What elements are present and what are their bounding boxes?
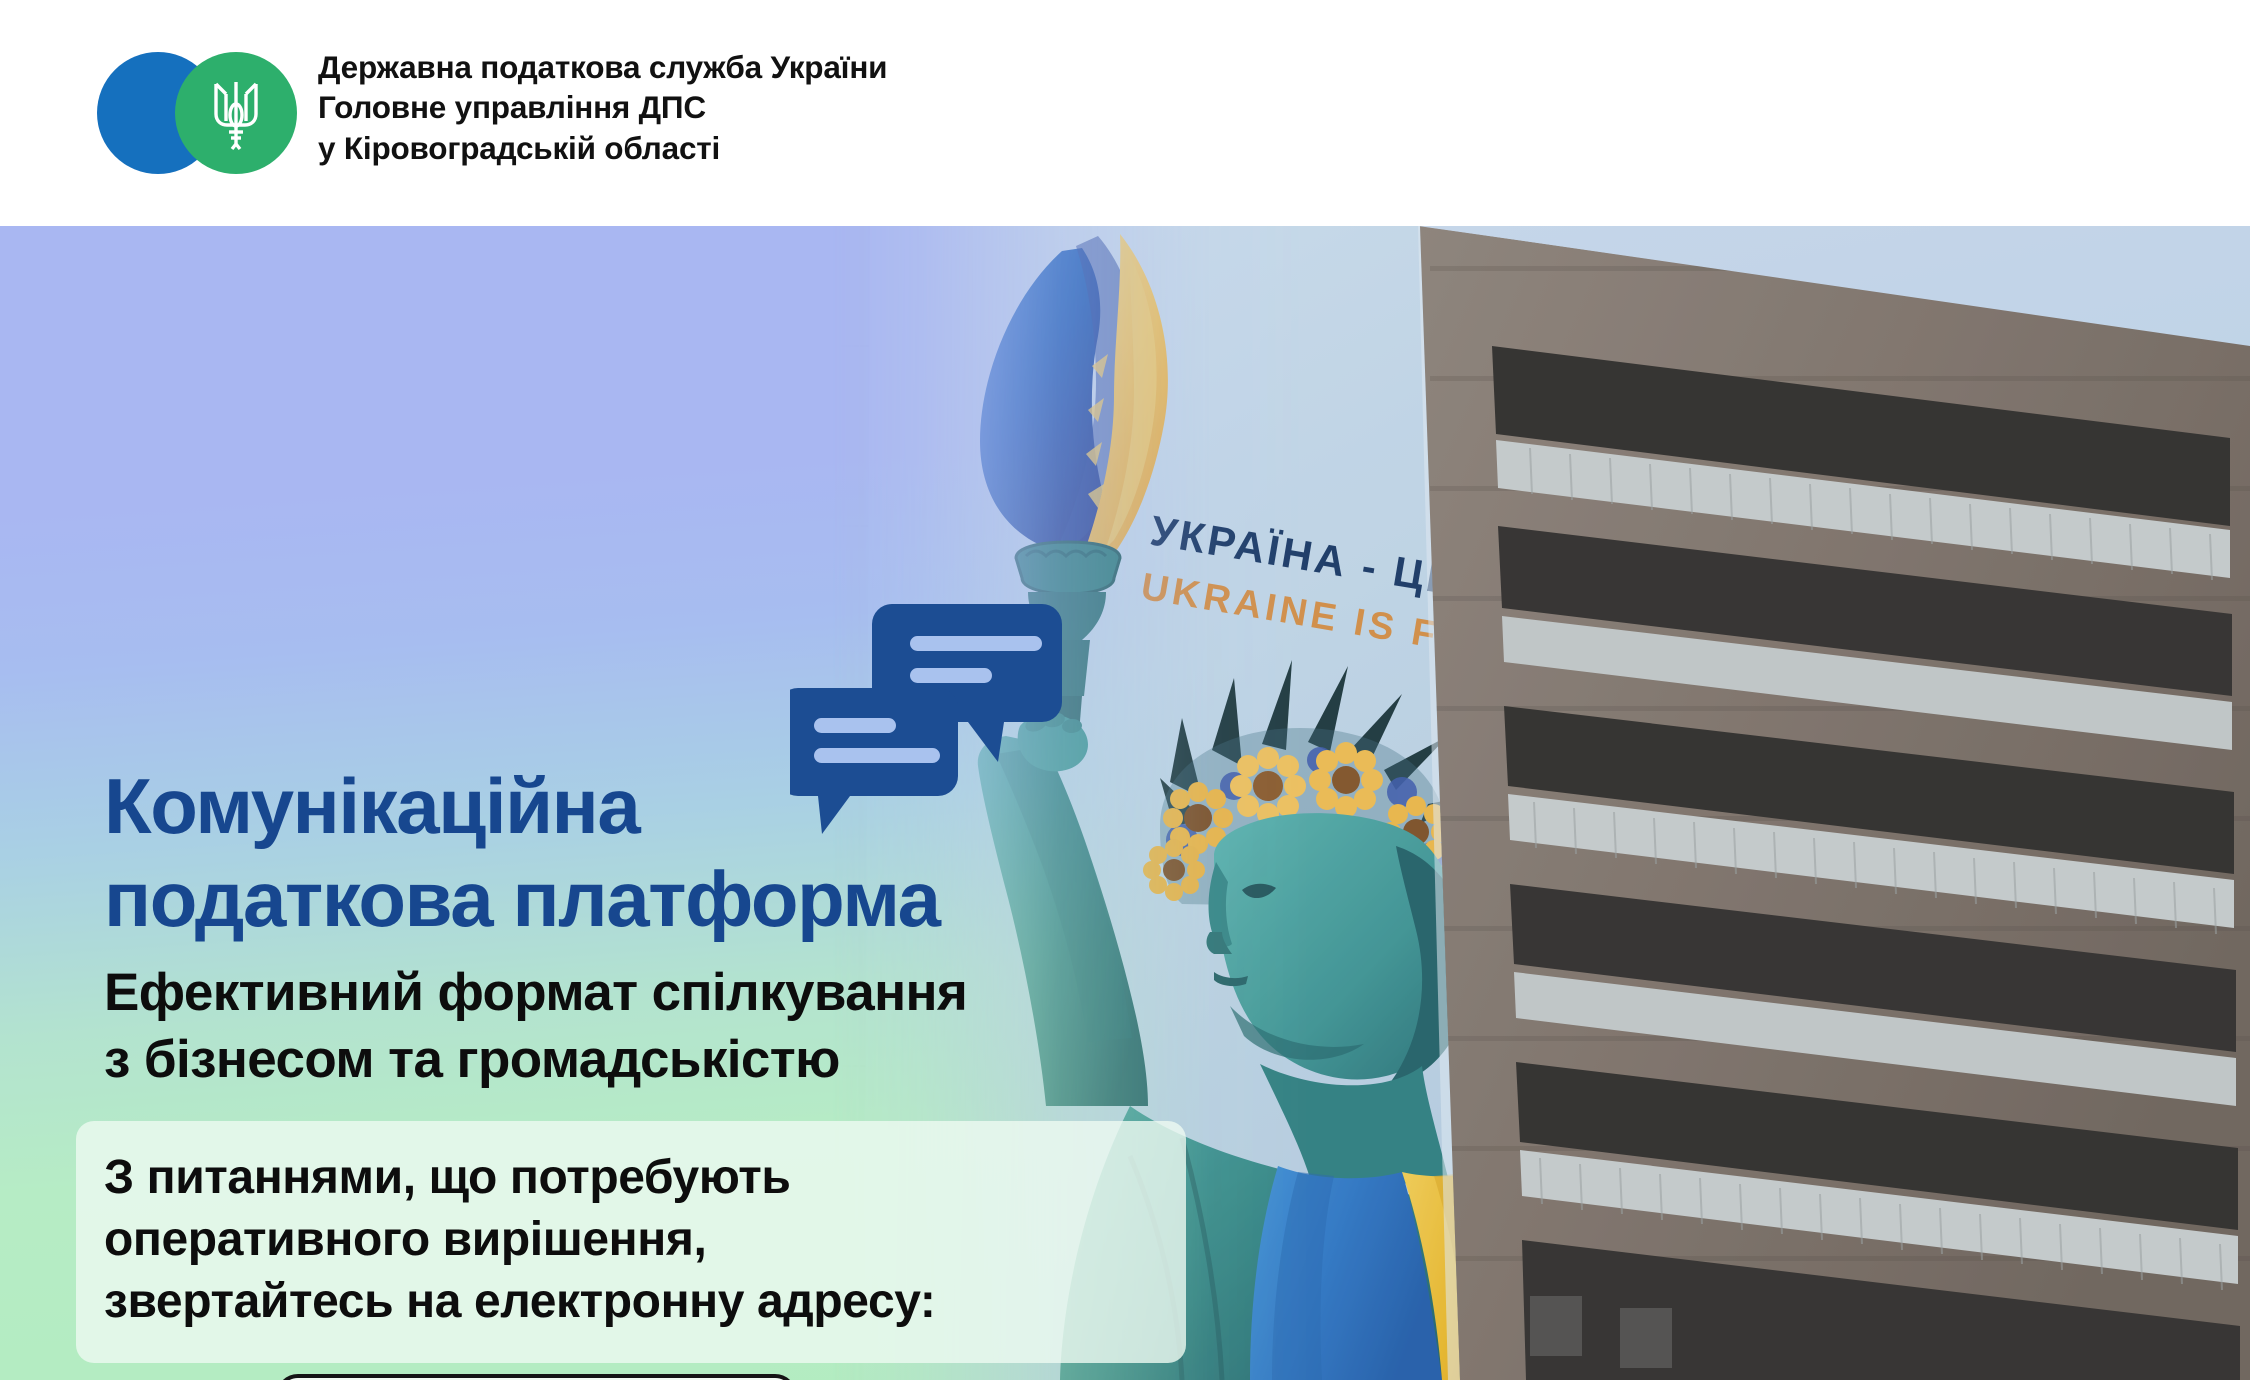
agency-line-1: Державна податкова служба України [318,47,1418,87]
agency-name: Державна податкова служба України Головн… [318,47,1418,169]
title-line-2: податкова платформа [104,855,940,943]
poster: Державна податкова служба України Головн… [0,0,2250,1380]
title-line-1: Комунікаційна [104,762,639,850]
note-line-3: звертайтесь на електронну адресу: [104,1271,1156,1333]
page-subtitle: Ефективний формат спілкування з бізнесом… [104,959,1264,1093]
trident-icon [207,74,265,152]
agency-logo [97,52,297,174]
contact-note: З питаннями, що потребують оперативного … [76,1121,1186,1363]
note-line-2: оперативного вирішення, [104,1209,1156,1271]
page-title: Комунікаційна податкова платформа [104,760,1224,946]
subtitle-line-2: з бізнесом та громадськістю [104,1030,840,1089]
email-address-button[interactable]: kr.ikc@tax.gov.ua [276,1374,797,1380]
header-bar: Державна податкова служба України Головн… [0,0,2250,226]
agency-line-3: у Кіровоградській області [318,128,1418,169]
subtitle-line-1: Ефективний формат спілкування [104,963,967,1022]
agency-line-2: Головне управління ДПС [318,87,1418,128]
note-line-1: З питаннями, що потребують [104,1147,1156,1209]
poster-body: УКРАЇНА - ЦЕ СВОБОДА UKRAINE IS FREEDOM [0,226,2250,1380]
